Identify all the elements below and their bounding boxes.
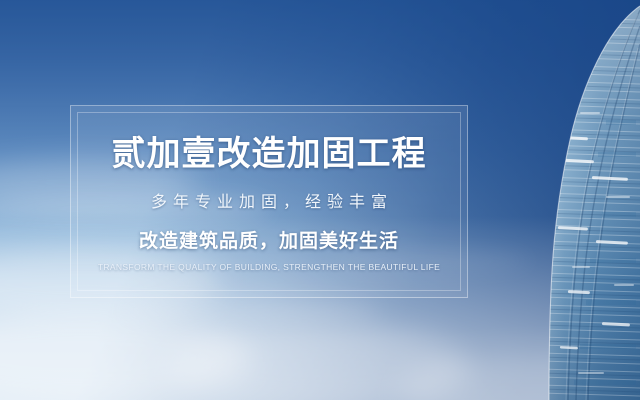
text-panel-frame (70, 105, 468, 298)
cloud-streak-center (120, 300, 380, 322)
skyscraper-image (510, 0, 640, 400)
hero-banner: 贰加壹改造加固工程 多年专业加固，经验丰富 改造建筑品质，加固美好生活 TRAN… (0, 0, 640, 400)
text-panel-inner-border (77, 112, 461, 291)
